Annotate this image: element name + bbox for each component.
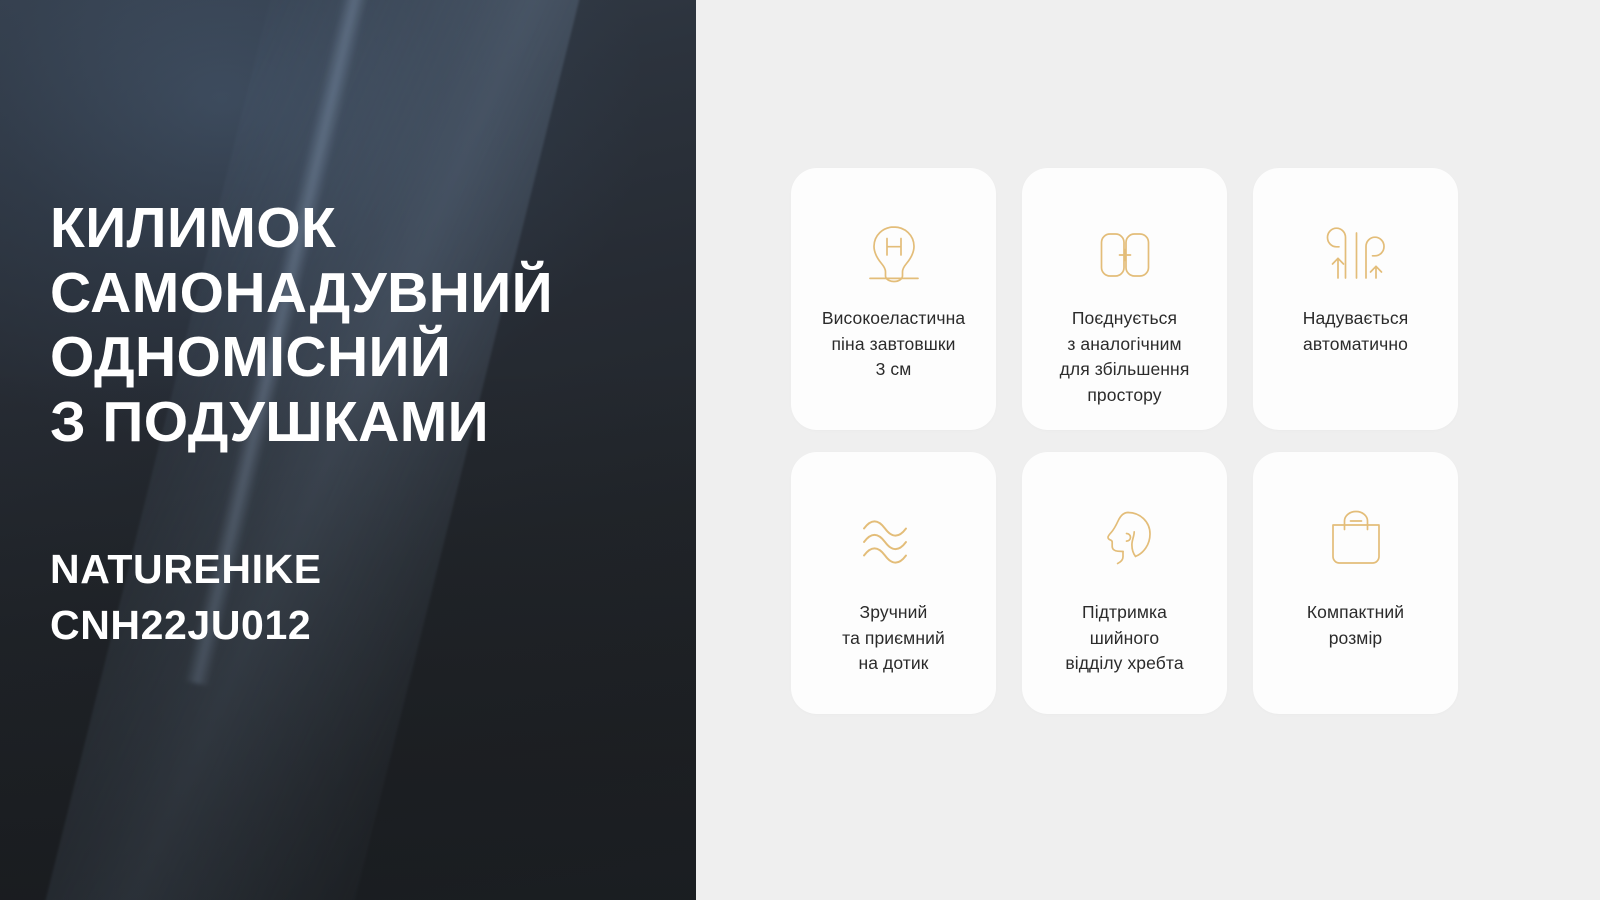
feature-label: Зручний та приємний на дотик <box>842 600 945 677</box>
features-panel: Високоеластична піна завтовшки 3 см Поєд… <box>696 0 1600 900</box>
two-mats-plus-icon <box>1088 220 1162 290</box>
feature-label: Високоеластична піна завтовшки 3 см <box>822 306 965 383</box>
feature-card-neck-support[interactable]: Підтримка шийного відділу хребта <box>1022 452 1227 714</box>
features-grid: Високоеластична піна завтовшки 3 см Поєд… <box>791 168 1458 714</box>
feature-card-soft-touch[interactable]: Зручний та приємний на дотик <box>791 452 996 714</box>
foam-bulb-icon <box>857 220 931 290</box>
compact-bag-icon <box>1319 504 1393 574</box>
soft-waves-icon <box>857 504 931 574</box>
product-banner: КИЛИМОК САМОНАДУВНИЙ ОДНОМІСНИЙ З ПОДУШК… <box>0 0 1600 900</box>
head-neck-support-icon <box>1088 504 1162 574</box>
brand-name: NATUREHIKE <box>50 541 690 598</box>
feature-card-compact-size[interactable]: Компактний розмір <box>1253 452 1458 714</box>
feature-label: Надувається автоматично <box>1303 306 1409 357</box>
feature-card-foam-thickness[interactable]: Високоеластична піна завтовшки 3 см <box>791 168 996 430</box>
feature-label: Підтримка шийного відділу хребта <box>1065 600 1183 677</box>
feature-card-combinable[interactable]: Поєднується з аналогічним для збільшення… <box>1022 168 1227 430</box>
brand-block: NATUREHIKE CNH22JU012 <box>50 541 690 654</box>
hero-content: КИЛИМОК САМОНАДУВНИЙ ОДНОМІСНИЙ З ПОДУШК… <box>50 196 690 654</box>
feature-card-auto-inflate[interactable]: Надувається автоматично <box>1253 168 1458 430</box>
auto-inflate-arrows-icon <box>1319 220 1393 290</box>
hero-panel: КИЛИМОК САМОНАДУВНИЙ ОДНОМІСНИЙ З ПОДУШК… <box>0 0 696 900</box>
product-title: КИЛИМОК САМОНАДУВНИЙ ОДНОМІСНИЙ З ПОДУШК… <box>50 196 690 455</box>
model-code: CNH22JU012 <box>50 597 690 654</box>
feature-label: Компактний розмір <box>1307 600 1404 651</box>
feature-label: Поєднується з аналогічним для збільшення… <box>1060 306 1190 409</box>
